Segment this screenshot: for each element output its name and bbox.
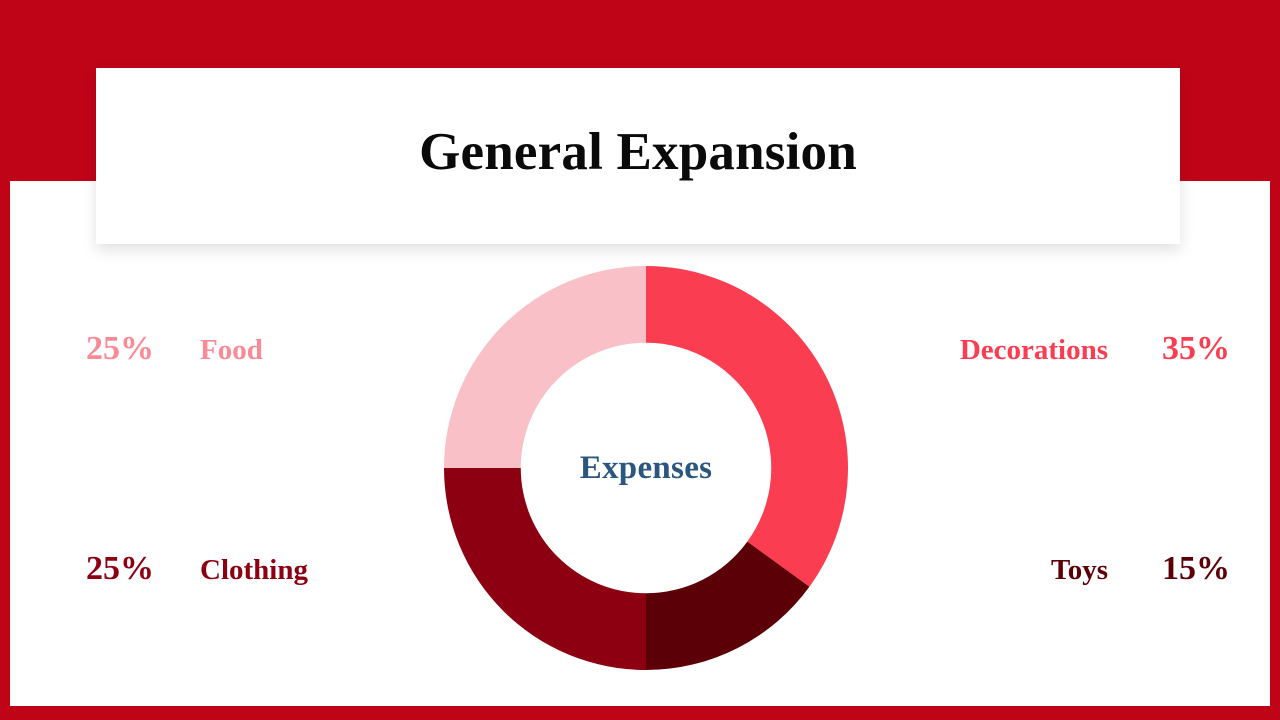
legend-percent-clothing: 25% bbox=[86, 552, 154, 586]
legend-item-food[interactable]: 25% Food bbox=[86, 332, 263, 366]
donut-segment-decorations[interactable] bbox=[646, 266, 848, 587]
legend-label-decorations: Decorations bbox=[960, 336, 1108, 365]
legend-label-toys: Toys bbox=[1051, 556, 1108, 585]
legend-item-clothing[interactable]: 25% Clothing bbox=[86, 552, 308, 586]
donut-segment-group bbox=[444, 266, 848, 670]
legend-item-toys[interactable]: Toys 15% bbox=[690, 552, 1230, 586]
legend-label-food: Food bbox=[200, 336, 263, 365]
slide-canvas: General Expansion Expenses 25% Food 25% … bbox=[0, 0, 1280, 720]
legend-percent-decorations: 35% bbox=[1162, 332, 1230, 366]
donut-chart: Expenses bbox=[444, 266, 848, 670]
donut-segment-food[interactable] bbox=[444, 266, 646, 468]
legend-item-decorations[interactable]: Decorations 35% bbox=[690, 332, 1230, 366]
legend-percent-toys: 15% bbox=[1162, 552, 1230, 586]
page-title: General Expansion bbox=[419, 126, 857, 179]
legend-percent-food: 25% bbox=[86, 332, 154, 366]
donut-segment-clothing[interactable] bbox=[444, 468, 646, 670]
chart-area: Expenses 25% Food 25% Clothing Decoratio… bbox=[0, 181, 1280, 706]
legend-label-clothing: Clothing bbox=[200, 556, 308, 585]
donut-svg bbox=[444, 266, 848, 670]
